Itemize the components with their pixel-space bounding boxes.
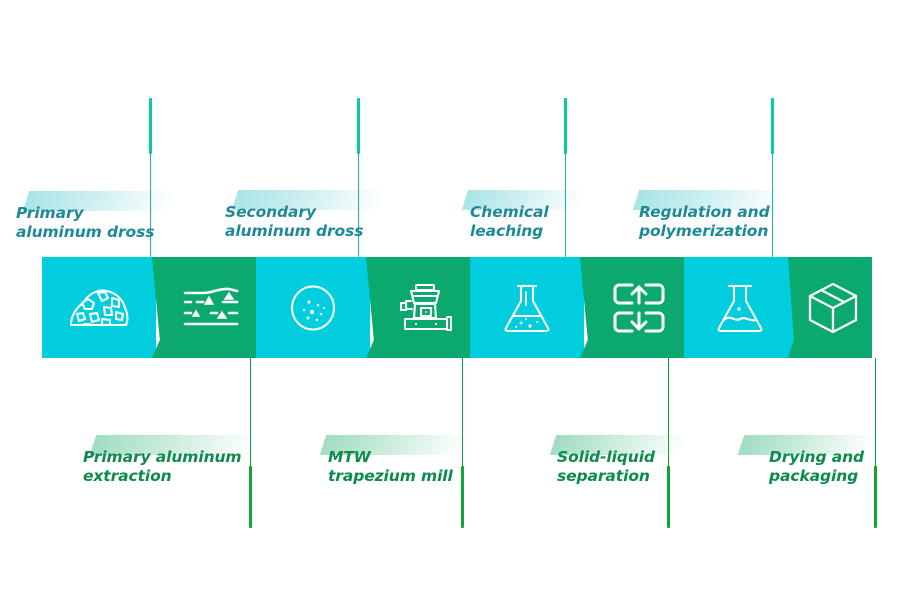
flask-polymer-icon [714, 283, 766, 333]
step-label-chemical-leaching: Chemical leaching [470, 163, 602, 262]
step-label-text: Drying and packaging [769, 448, 900, 488]
step-segment-7[interactable] [684, 257, 796, 358]
step-segment-3[interactable] [256, 257, 370, 358]
step-label-text: Secondary aluminum dross [225, 203, 397, 243]
step-label-text: MTW trapezium mill [328, 448, 478, 488]
step-label-text: Primary aluminum extraction [83, 448, 268, 488]
separation-arrows-icon [613, 283, 665, 333]
step-label-drying-and-packaging: Drying and packaging [769, 408, 900, 507]
step-label-text: Regulation and polymerization [639, 203, 814, 243]
step-label-primary-aluminum-dross: Primary aluminum dross [16, 164, 176, 263]
grinding-mill-icon [396, 283, 454, 333]
particles-circle-icon [289, 284, 337, 332]
package-box-icon [808, 282, 858, 334]
step-label-text: Primary aluminum dross [16, 204, 176, 244]
step-segment-8[interactable] [788, 257, 872, 358]
step-label-text: Solid-liquid separation [557, 448, 707, 488]
step-label-secondary-aluminum-dross: Secondary aluminum dross [225, 163, 397, 262]
ore-pile-icon [68, 286, 130, 330]
step-segment-1[interactable] [42, 257, 156, 358]
process-flow-diagram: Primary aluminum dross Secondary aluminu… [0, 0, 900, 607]
step-label-primary-aluminum-extraction: Primary aluminum extraction [83, 408, 268, 507]
step-segment-4[interactable] [366, 257, 478, 358]
step-label-solid-liquid-separation: Solid-liquid separation [557, 408, 707, 507]
flask-leaching-icon [501, 283, 553, 333]
step-segment-5[interactable] [470, 257, 584, 358]
step-label-regulation-and-polymerization: Regulation and polymerization [639, 163, 814, 262]
step-segment-6[interactable] [580, 257, 692, 358]
step-label-mtw-trapezium-mill: MTW trapezium mill [328, 408, 478, 507]
process-band [42, 257, 872, 358]
strata-layers-icon [183, 286, 239, 330]
step-label-text: Chemical leaching [470, 203, 602, 243]
step-segment-2[interactable] [152, 257, 264, 358]
